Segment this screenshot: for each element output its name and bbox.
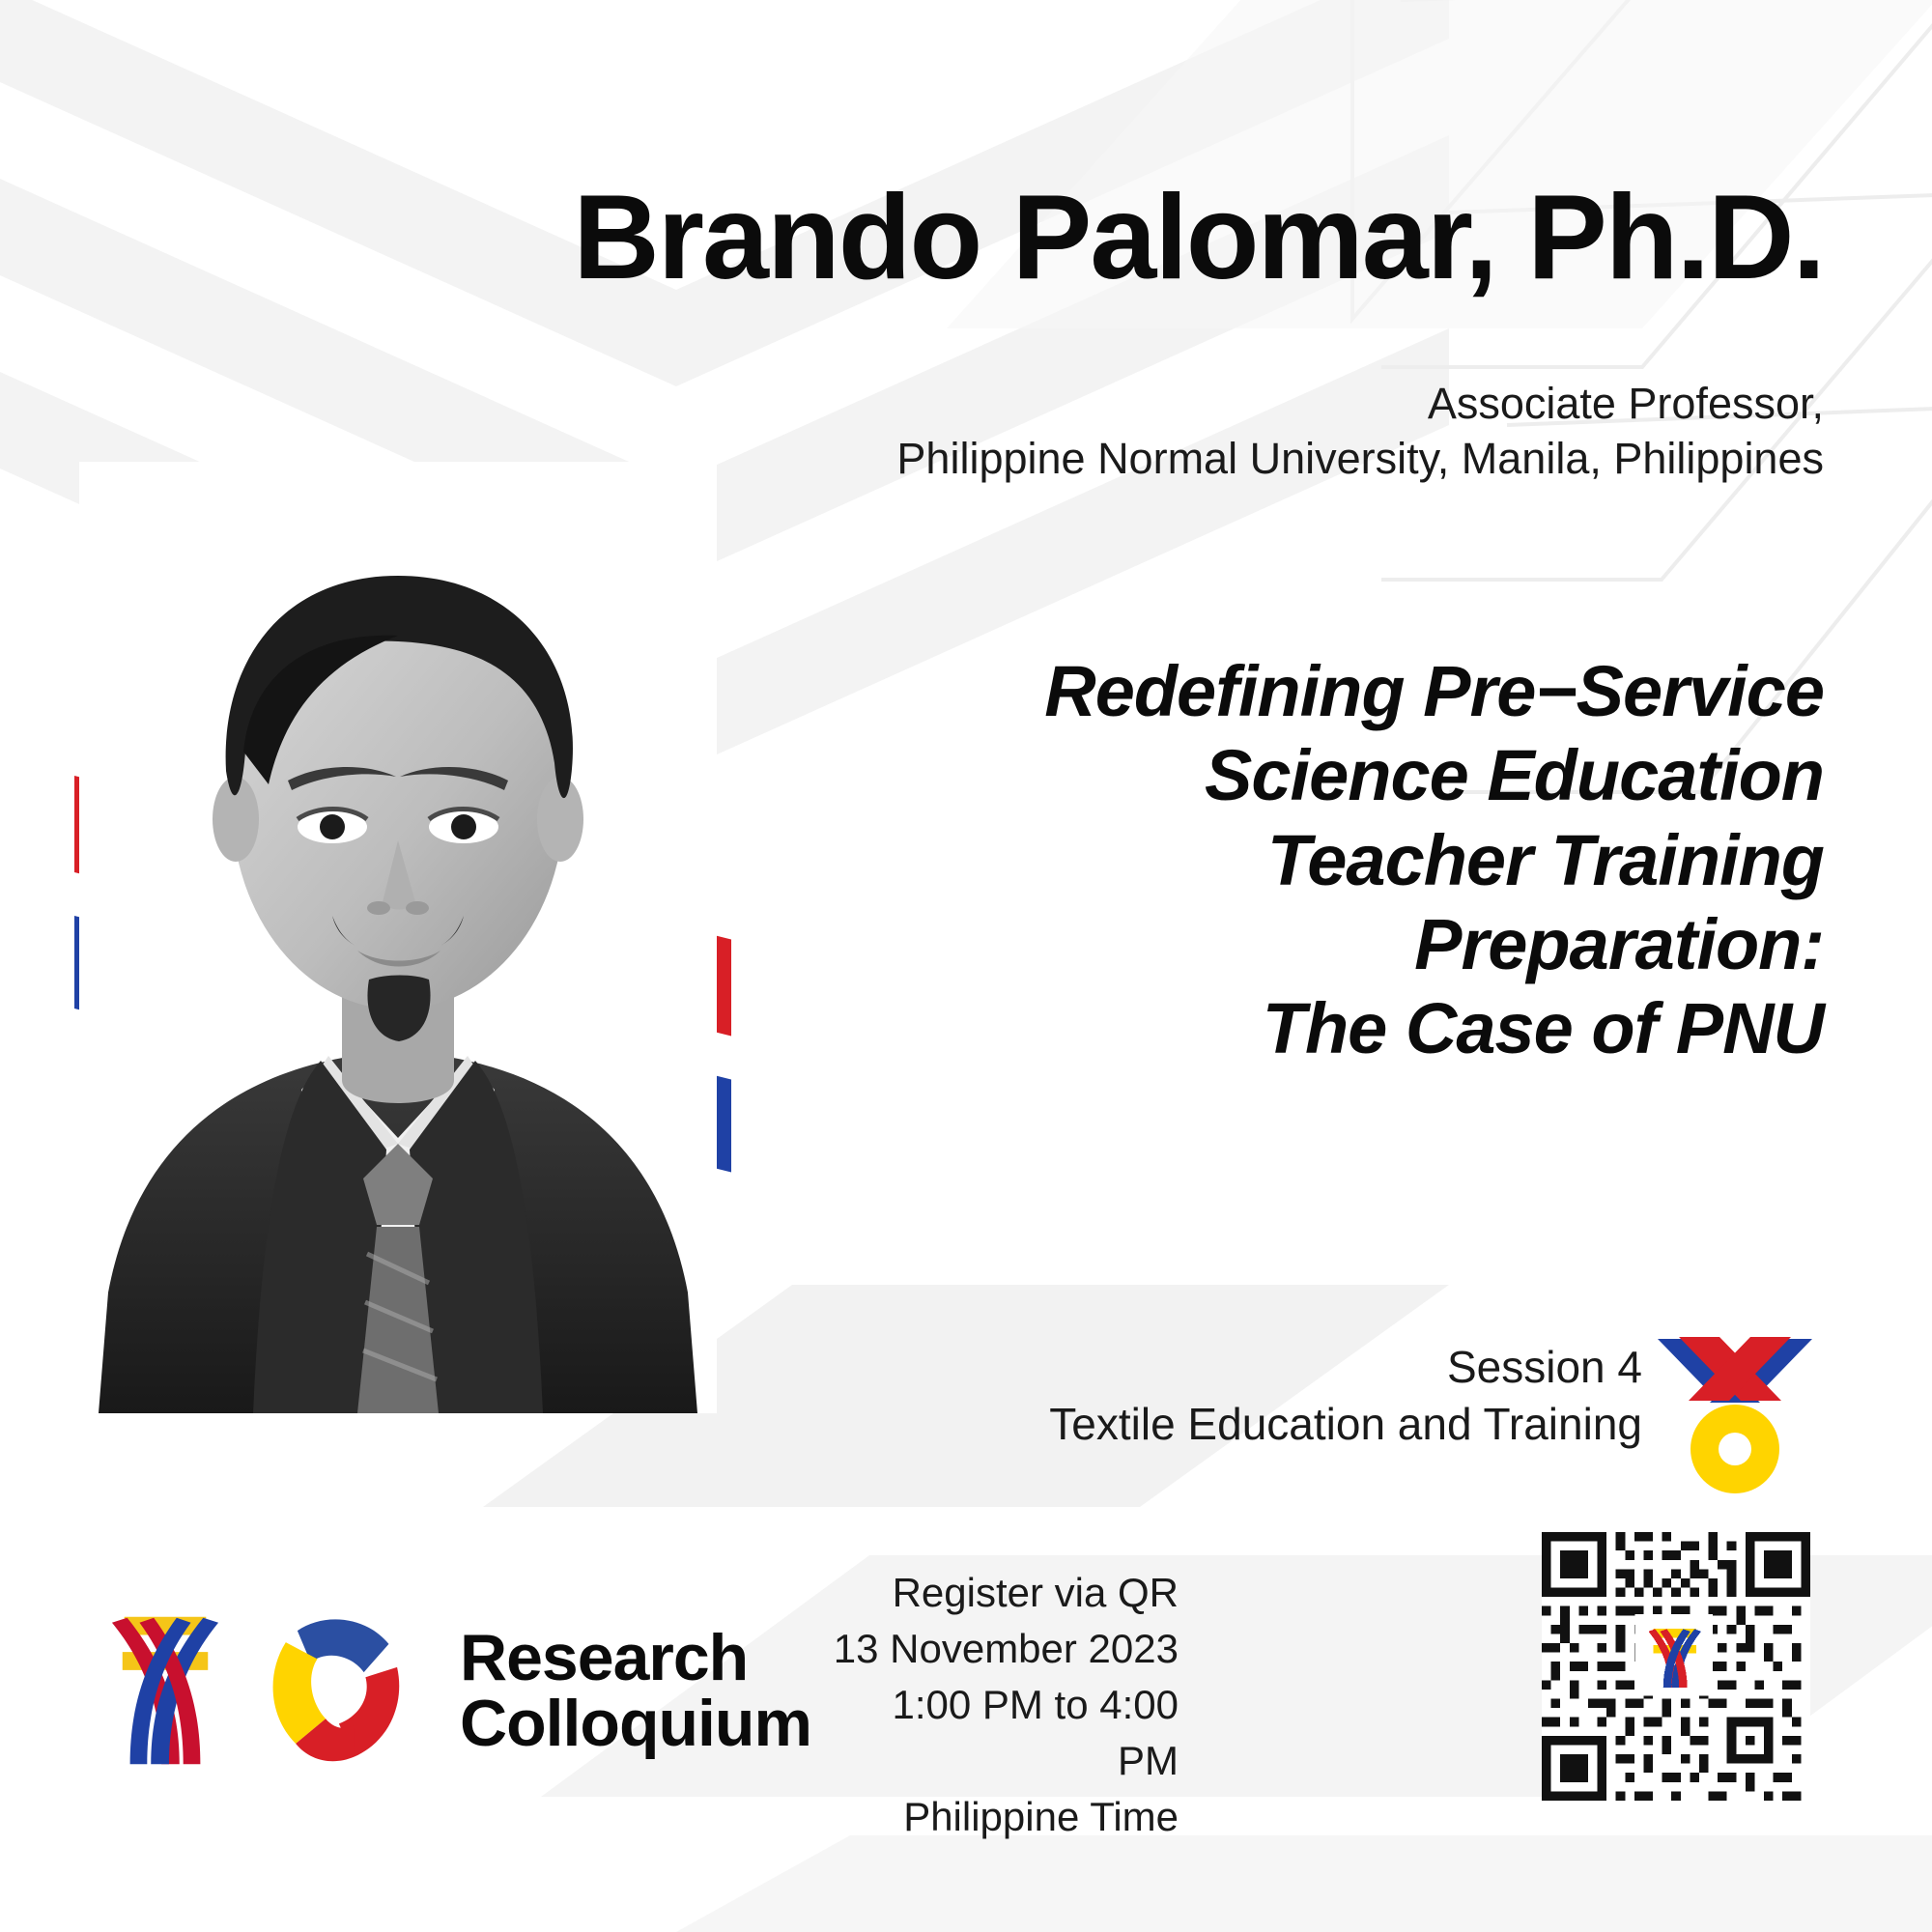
talk-title-line: Preparation: [676, 902, 1824, 986]
qr-code[interactable] [1542, 1532, 1810, 1801]
session-number: Session 4 [676, 1339, 1642, 1396]
speaker-affiliation: Associate Professor, Philippine Normal U… [386, 377, 1824, 486]
woven-ribbon-logo-icon [108, 1599, 222, 1782]
talk-title-line: Science Education [676, 733, 1824, 817]
register-cta: Register via QR [831, 1565, 1179, 1621]
speaker-portrait [79, 462, 717, 1413]
registration-info: Register via QR 13 November 2023 1:00 PM… [831, 1565, 1179, 1845]
pinwheel-logo-icon [267, 1607, 410, 1774]
research-colloquium-wordmark: Research Colloquium [460, 1625, 811, 1756]
event-timezone: Philippine Time [831, 1789, 1179, 1845]
speaker-name: Brando Palomar, Ph.D. [290, 176, 1824, 300]
speaker-institution: Philippine Normal University, Manila, Ph… [386, 432, 1824, 487]
event-date: 13 November 2023 [831, 1621, 1179, 1677]
event-time: 1:00 PM to 4:00 PM [831, 1677, 1179, 1789]
talk-title-line: The Case of PNU [676, 986, 1824, 1070]
session-info: Session 4 Textile Education and Training [676, 1339, 1642, 1453]
speaker-photo [79, 462, 717, 1413]
speaker-role: Associate Professor, [386, 377, 1824, 432]
talk-title: Redefining Pre−Service Science Education… [676, 649, 1824, 1071]
wordmark-line-2: Colloquium [460, 1690, 811, 1756]
wordmark-line-1: Research [460, 1625, 811, 1690]
talk-title-line: Redefining Pre−Service [676, 649, 1824, 733]
event-poster: Brando Palomar, Ph.D. Associate Professo… [0, 0, 1932, 1932]
medal-icon [1648, 1333, 1822, 1497]
session-track: Textile Education and Training [676, 1396, 1642, 1453]
talk-title-line: Teacher Training [676, 818, 1824, 902]
branding-logos: Research Colloquium [108, 1599, 811, 1782]
